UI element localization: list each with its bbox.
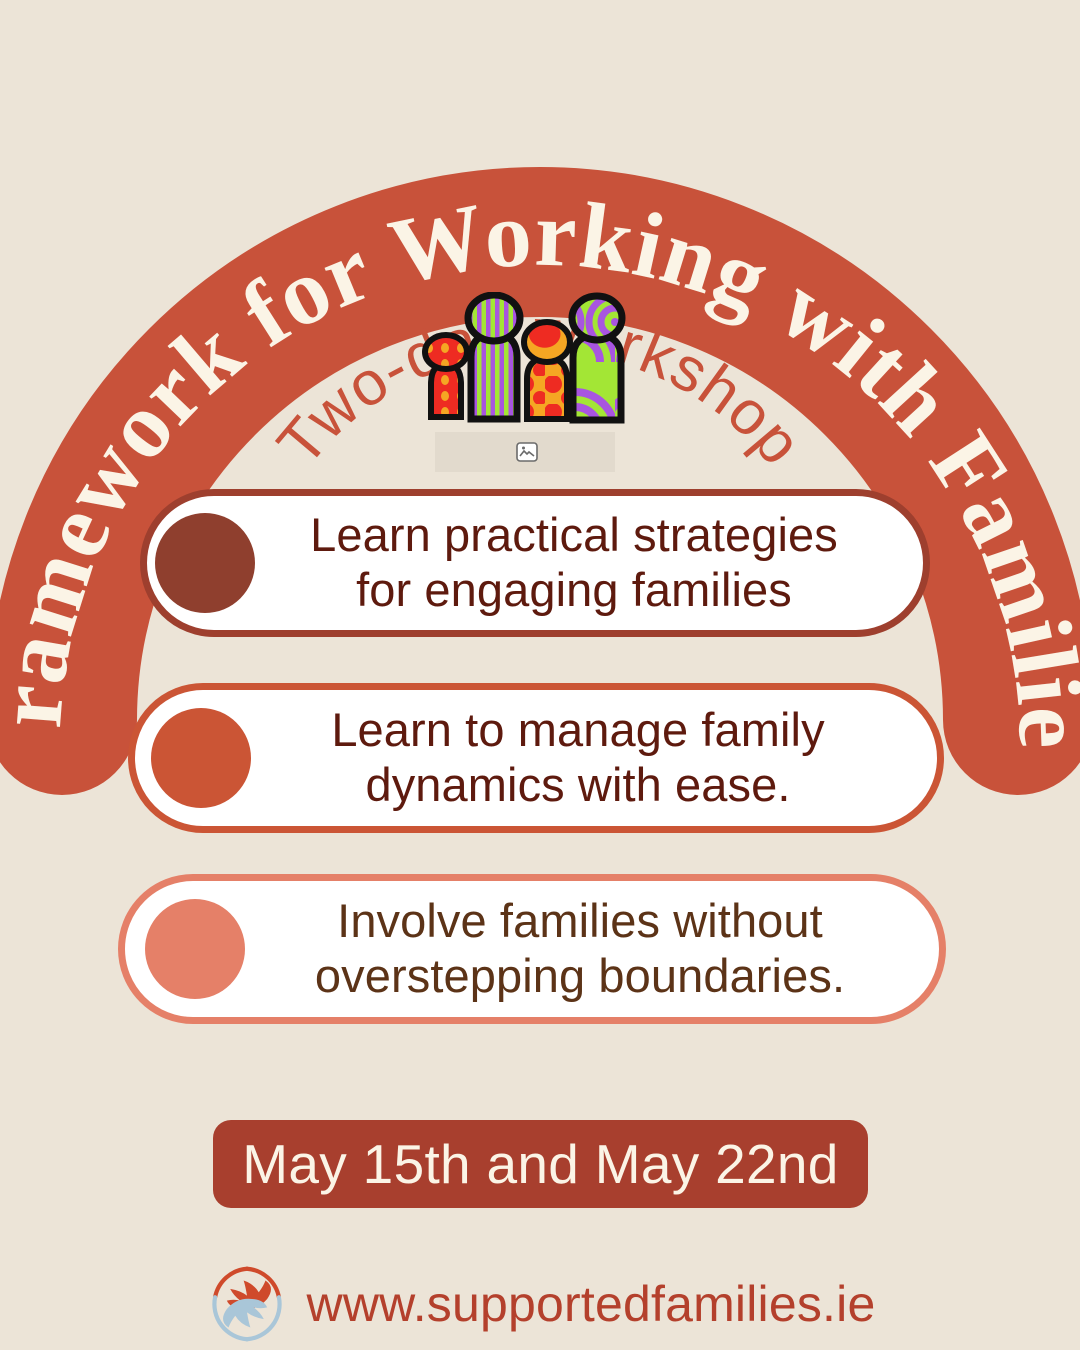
bullet-line-1a: Learn practical strategies <box>310 508 838 561</box>
family-figurines-artwork <box>405 292 635 472</box>
figurine-4 <box>572 296 622 420</box>
bullet-pill-2[interactable]: Learn to manage family dynamics with eas… <box>128 683 944 833</box>
bullet-line-3a: Involve families without <box>337 894 823 947</box>
bullet-text-1: Learn practical strategies for engaging … <box>251 508 923 617</box>
poster-canvas: Framework for Working with Families Two-… <box>0 0 1080 1350</box>
date-banner[interactable]: May 15th and May 22nd <box>213 1120 868 1208</box>
figurine-3 <box>524 322 570 419</box>
bullet-line-2a: Learn to manage family <box>331 703 824 756</box>
broken-image-icon <box>515 440 539 464</box>
bullet-dot-2 <box>151 708 251 808</box>
bullet-pill-1[interactable]: Learn practical strategies for engaging … <box>140 489 930 637</box>
bullet-line-2b: dynamics with ease. <box>365 758 790 811</box>
bullet-dot-3 <box>145 899 245 999</box>
two-hands-circle-logo-icon <box>205 1262 289 1346</box>
website-url[interactable]: www.supportedfamilies.ie <box>307 1275 876 1333</box>
bullet-text-3: Involve families without overstepping bo… <box>235 894 939 1003</box>
bullet-pill-3[interactable]: Involve families without overstepping bo… <box>118 874 946 1024</box>
figurine-2 <box>468 295 520 419</box>
bullet-dot-1 <box>155 513 255 613</box>
figurine-1 <box>425 335 467 417</box>
bullet-line-3b: overstepping boundaries. <box>315 949 845 1002</box>
footer-bar: www.supportedfamilies.ie <box>0 1258 1080 1350</box>
bullet-text-2: Learn to manage family dynamics with eas… <box>249 703 937 812</box>
date-banner-label: May 15th and May 22nd <box>242 1132 838 1196</box>
bullet-line-1b: for engaging families <box>356 563 792 616</box>
